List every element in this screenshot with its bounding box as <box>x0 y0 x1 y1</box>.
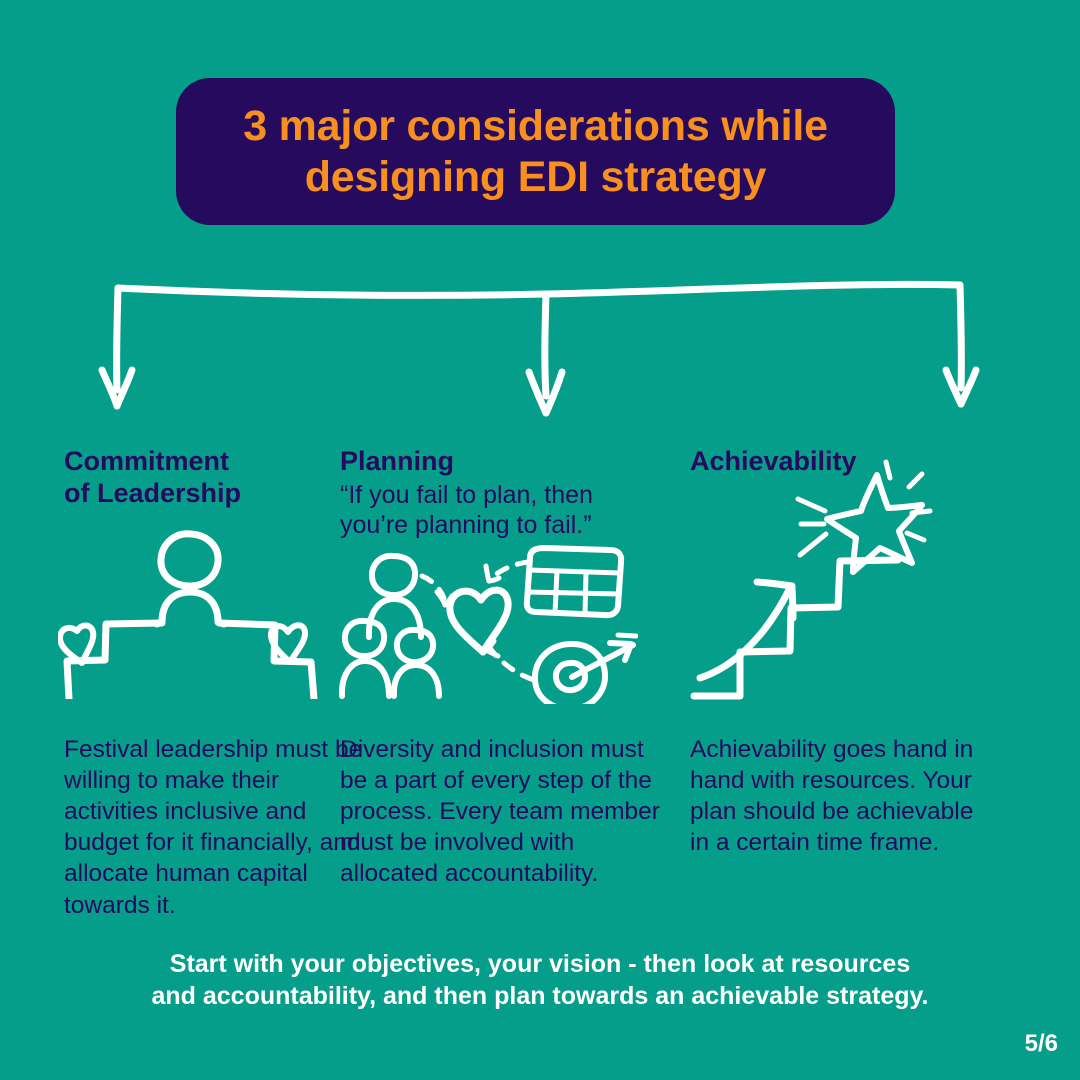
column-2-body: Diversity and inclusion must be a part o… <box>340 734 670 890</box>
footer-line-2: and accountability, and then plan toward… <box>0 980 1080 1012</box>
column-2-quote-line-1: “If you fail to plan, then <box>340 481 593 509</box>
title-badge: 3 major considerations while designing E… <box>176 78 895 225</box>
infographic-slide: 3 major considerations while designing E… <box>0 0 1080 1080</box>
column-1-body: Festival leadership must be willing to m… <box>64 734 364 921</box>
footer-line-1: Start with your objectives, your vision … <box>170 950 910 978</box>
title-line-1: 3 major considerations while <box>243 102 828 150</box>
column-achievability: Achievability <box>690 446 1080 916</box>
column-2-heading: Planning <box>340 446 672 478</box>
title-line-2: designing EDI strategy <box>243 152 828 203</box>
column-2-quote: “If you fail to plan, then you’re planni… <box>340 480 672 540</box>
page-indicator: 5/6 <box>1025 1030 1058 1058</box>
people-heart-calendar-target-icon <box>338 544 638 709</box>
leader-on-podium-with-hearts-icon <box>58 524 324 704</box>
column-planning: Planning “If you fail to plan, then you’… <box>340 446 690 916</box>
column-1-heading: Commitment of Leadership <box>64 446 322 510</box>
considerations-columns: Commitment of Leadership <box>0 446 1080 916</box>
column-2-quote-line-2: you’re planning to fail.” <box>340 511 592 539</box>
column-1-heading-line-2: of Leadership <box>64 478 241 508</box>
page-title: 3 major considerations while designing E… <box>217 101 854 202</box>
column-1-heading-line-1: Commitment <box>64 446 229 476</box>
stairs-arrow-star-icon <box>690 456 960 711</box>
three-branch-down-arrows-icon <box>80 272 1000 417</box>
footer-summary: Start with your objectives, your vision … <box>0 948 1080 1012</box>
column-3-body: Achievability goes hand in hand with res… <box>690 734 975 858</box>
column-commitment-of-leadership: Commitment of Leadership <box>0 446 340 916</box>
